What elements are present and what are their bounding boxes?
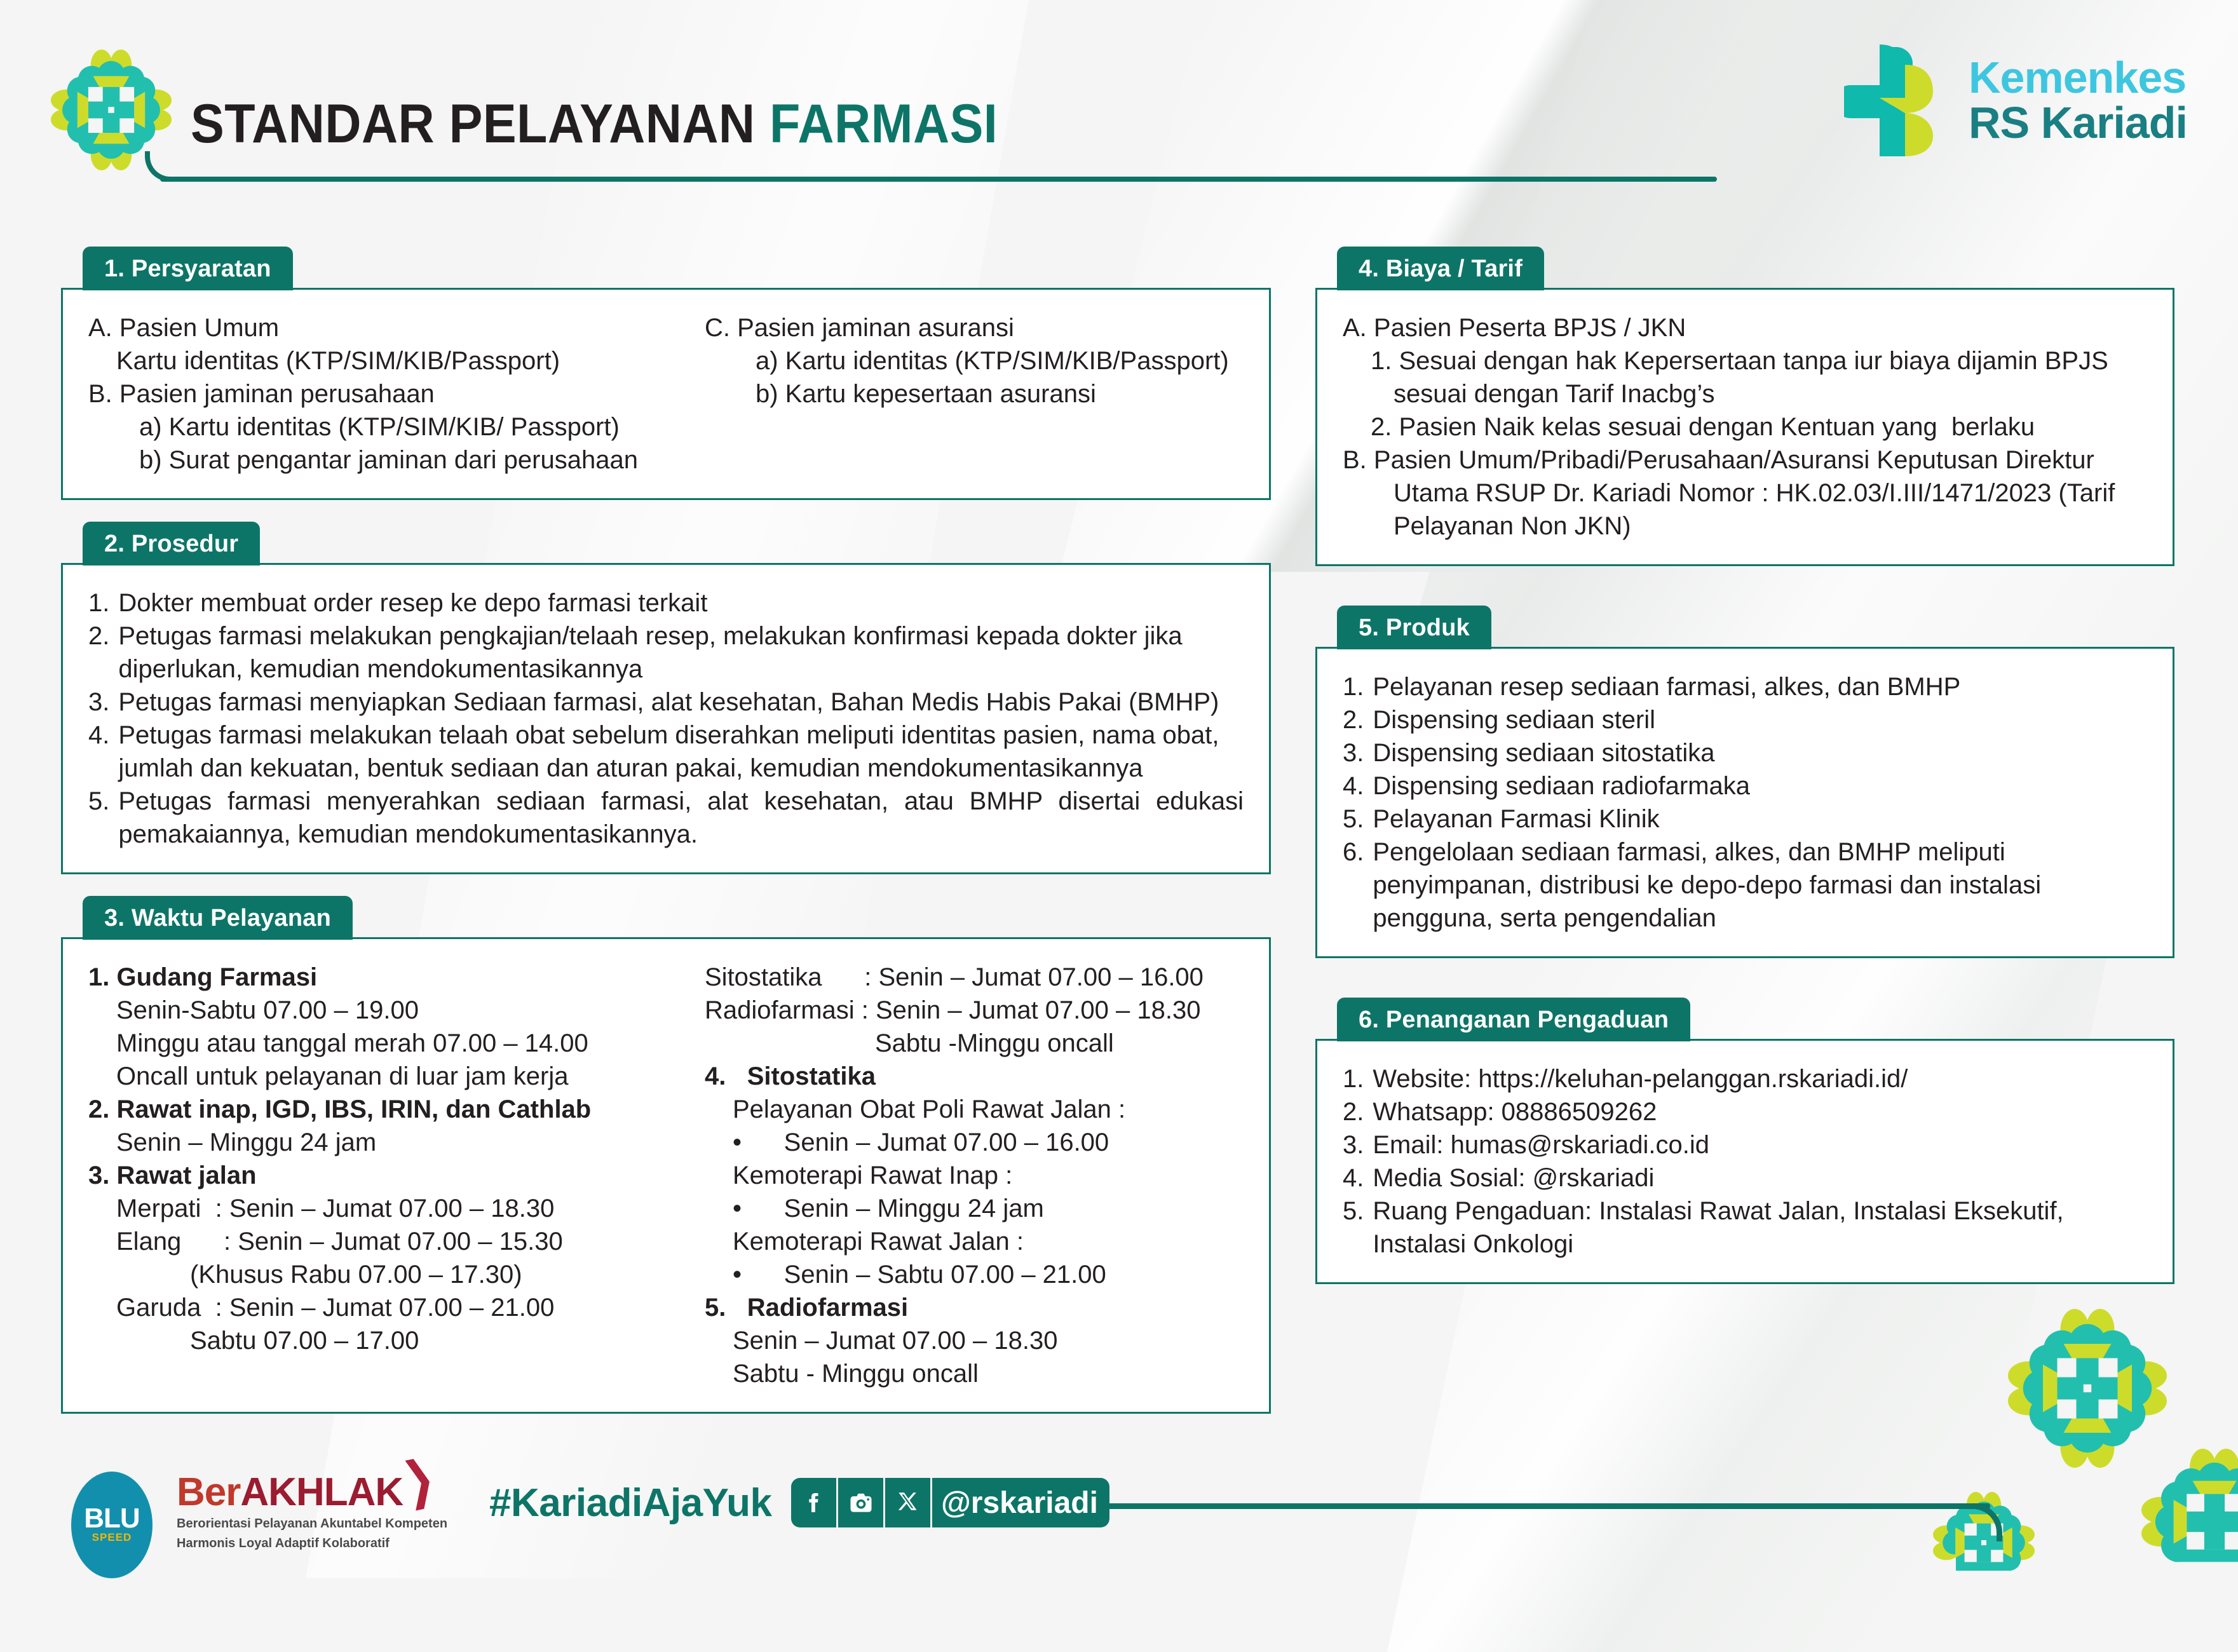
list-item: 2. Petugas farmasi melakukan pengkajian/…	[88, 619, 1244, 686]
batik-flower-ornament-corner	[2141, 1449, 2238, 1598]
kemenkes-line1: Kemenkes	[1969, 55, 2187, 100]
list-text: Whatsapp: 08886509262	[1373, 1095, 2147, 1128]
list-item: Pelayanan Obat Poli Rawat Jalan :	[705, 1093, 1244, 1126]
list-item: (Khusus Rabu 07.00 – 17.30)	[88, 1258, 679, 1291]
list-text: Dispensing sediaan steril	[1373, 703, 2147, 736]
list-item: 4. Petugas farmasi melakukan telaah obat…	[88, 719, 1244, 785]
blu-logo: BLU SPEED	[71, 1472, 153, 1578]
section-biaya-tarif: 4. Biaya / Tarif A. Pasien Peserta BPJS …	[1315, 247, 2174, 566]
list-item: Sabtu 07.00 – 17.00	[88, 1324, 679, 1357]
list-item: sesuai dengan Tarif Inacbg’s	[1343, 377, 2147, 410]
list-text: Ruang Pengaduan: Instalasi Rawat Jalan, …	[1373, 1195, 2147, 1261]
list-text: Petugas farmasi melakukan pengkajian/tel…	[118, 619, 1244, 686]
section-tab-produk: 5. Produk	[1337, 606, 1491, 649]
berakhlak-ber: Ber	[177, 1470, 240, 1514]
hashtag-kariadi: #KariadiAjaYuk	[489, 1480, 771, 1526]
list-item: Kemoterapi Rawat Inap :	[705, 1159, 1244, 1192]
list-item: Kemoterapi Rawat Jalan :	[705, 1225, 1244, 1258]
list-marker: 4.	[88, 719, 118, 785]
list-item: 1. Dokter membuat order resep ke depo fa…	[88, 586, 1244, 619]
list-marker: 4.	[1343, 769, 1373, 802]
list-marker: 5.	[1343, 1195, 1373, 1261]
list-item: Radiofarmasi : Senin – Jumat 07.00 – 18.…	[705, 994, 1244, 1027]
waktu-right-list: Sitostatika : Senin – Jumat 07.00 – 16.0…	[705, 961, 1244, 1390]
list-item: 1. Website: https://keluhan-pelanggan.rs…	[1343, 1062, 2147, 1095]
list-item: Sabtu - Minggu oncall	[705, 1357, 1244, 1390]
list-marker: 3.	[1343, 736, 1373, 769]
section-penanganan-pengaduan: 6. Penanganan Pengaduan 1. Website: http…	[1315, 998, 2174, 1284]
page-title-accent: FARMASI	[770, 93, 998, 154]
list-item: 5. Petugas farmasi menyerahkan sediaan f…	[88, 785, 1244, 851]
instagram-icon[interactable]	[838, 1478, 885, 1527]
list-text: Pelayanan Farmasi Klinik	[1373, 802, 2147, 836]
kemenkes-clover-icon	[1844, 43, 1952, 158]
list-item: b) Kartu kepesertaan asuransi	[705, 377, 1244, 410]
footer-rule-curve	[1967, 1503, 2002, 1541]
kemenkes-line2: RS Kariadi	[1969, 100, 2187, 146]
list-item: Garuda : Senin – Jumat 07.00 – 21.00	[88, 1291, 679, 1324]
list-item: 2. Rawat inap, IGD, IBS, IRIN, dan Cathl…	[88, 1093, 679, 1126]
social-handle: @rskariadi	[932, 1478, 1109, 1527]
section-body-waktu-pelayanan: 1. Gudang Farmasi Senin-Sabtu 07.00 – 19…	[61, 937, 1271, 1414]
batik-flower-ornament-large	[2008, 1309, 2167, 1471]
list-item: • Senin – Sabtu 07.00 – 21.00	[705, 1258, 1244, 1291]
list-item: a) Kartu identitas (KTP/SIM/KIB/Passport…	[705, 344, 1244, 377]
blu-logo-sub: SPEED	[92, 1531, 132, 1544]
page-title-plain: STANDAR PELAYANAN	[191, 93, 770, 154]
list-marker: 1.	[88, 586, 118, 619]
list-text: Email: humas@rskariadi.co.id	[1373, 1128, 2147, 1161]
list-item: 3. Rawat jalan	[88, 1159, 679, 1192]
list-item: Merpati : Senin – Jumat 07.00 – 18.30	[88, 1192, 679, 1225]
social-media-bar[interactable]: @rskariadi	[791, 1478, 1109, 1527]
list-text: Petugas farmasi menyerahkan sediaan farm…	[118, 785, 1244, 851]
list-text: Dispensing sediaan sitostatika	[1373, 736, 2147, 769]
section-produk: 5. Produk 1. Pelayanan resep sediaan far…	[1315, 606, 2174, 958]
list-item: Sitostatika : Senin – Jumat 07.00 – 16.0…	[705, 961, 1244, 994]
list-item: a) Kartu identitas (KTP/SIM/KIB/ Passpor…	[88, 410, 679, 443]
berakhlak-arrow-icon: ❯	[400, 1453, 437, 1507]
list-item: C. Pasien jaminan asuransi	[705, 311, 1244, 344]
waktu-left-list: 1. Gudang Farmasi Senin-Sabtu 07.00 – 19…	[88, 961, 679, 1390]
list-item: 5. Ruang Pengaduan: Instalasi Rawat Jala…	[1343, 1195, 2147, 1261]
list-marker: 5.	[88, 785, 118, 851]
list-marker: 3.	[1343, 1128, 1373, 1161]
list-item: 5. Pelayanan Farmasi Klinik	[1343, 802, 2147, 836]
footer-rule	[1107, 1503, 1990, 1509]
list-item: 1. Sesuai dengan hak Kepersertaan tanpa …	[1343, 344, 2147, 377]
right-column: 4. Biaya / Tarif A. Pasien Peserta BPJS …	[1315, 247, 2174, 1306]
list-item: Kartu identitas (KTP/SIM/KIB/Passport)	[88, 344, 679, 377]
list-item: B. Pasien jaminan perusahaan	[88, 377, 679, 410]
section-persyaratan: 1. Persyaratan A. Pasien Umum Kartu iden…	[61, 247, 1271, 500]
list-item: Senin-Sabtu 07.00 – 19.00	[88, 994, 679, 1027]
list-marker: 3.	[88, 686, 118, 719]
list-item: Utama RSUP Dr. Kariadi Nomor : HK.02.03/…	[1343, 477, 2147, 510]
section-tab-biaya-tarif: 4. Biaya / Tarif	[1337, 247, 1544, 290]
list-text: Dispensing sediaan radiofarmaka	[1373, 769, 2147, 802]
list-item: 3. Email: humas@rskariadi.co.id	[1343, 1128, 2147, 1161]
list-item: B. Pasien Umum/Pribadi/Perusahaan/Asuran…	[1343, 443, 2147, 477]
list-item: 2. Dispensing sediaan steril	[1343, 703, 2147, 736]
berakhlak-logo: BerAKHLAK❯ Berorientasi Pelayanan Akunta…	[177, 1473, 447, 1552]
list-text: Pelayanan resep sediaan farmasi, alkes, …	[1373, 670, 2147, 703]
list-item: A. Pasien Peserta BPJS / JKN	[1343, 311, 2147, 344]
left-column: 1. Persyaratan A. Pasien Umum Kartu iden…	[61, 247, 1271, 1435]
berakhlak-wordmark: BerAKHLAK❯	[177, 1473, 447, 1512]
list-marker: 5.	[1343, 802, 1373, 836]
list-marker: 1.	[1343, 670, 1373, 703]
list-item: 1. Pelayanan resep sediaan farmasi, alke…	[1343, 670, 2147, 703]
section-body-persyaratan: A. Pasien Umum Kartu identitas (KTP/SIM/…	[61, 288, 1271, 500]
list-text: Pengelolaan sediaan farmasi, alkes, dan …	[1373, 836, 2147, 935]
list-item: 2. Pasien Naik kelas sesuai dengan Kentu…	[1343, 410, 2147, 443]
persyaratan-right-list: C. Pasien jaminan asuransi a) Kartu iden…	[705, 311, 1244, 477]
section-body-biaya-tarif: A. Pasien Peserta BPJS / JKN 1. Sesuai d…	[1315, 288, 2174, 566]
section-tab-penanganan-pengaduan: 6. Penanganan Pengaduan	[1337, 998, 1690, 1041]
berakhlak-tagline-2: Harmonis Loyal Adaptif Kolaboratif	[177, 1536, 447, 1552]
section-body-penanganan-pengaduan: 1. Website: https://keluhan-pelanggan.rs…	[1315, 1039, 2174, 1284]
list-marker: 2.	[1343, 1095, 1373, 1128]
berakhlak-akhlak: AKHLAK	[240, 1470, 403, 1514]
list-item: Pelayanan Non JKN)	[1343, 510, 2147, 543]
list-marker: 4.	[1343, 1161, 1373, 1195]
list-item: • Senin – Jumat 07.00 – 16.00	[705, 1126, 1244, 1159]
list-text: Dokter membuat order resep ke depo farma…	[118, 586, 1244, 619]
list-marker: 2.	[88, 619, 118, 686]
list-item: 5. Radiofarmasi	[705, 1291, 1244, 1324]
blu-logo-main: BLU	[84, 1506, 139, 1531]
x-twitter-icon[interactable]	[885, 1478, 932, 1527]
list-item: 4. Media Sosial: @rskariadi	[1343, 1161, 2147, 1195]
section-body-produk: 1. Pelayanan resep sediaan farmasi, alke…	[1315, 647, 2174, 958]
list-text: Petugas farmasi menyiapkan Sediaan farma…	[118, 686, 1244, 719]
list-item: Sabtu -Minggu oncall	[705, 1027, 1244, 1060]
list-item: 1. Gudang Farmasi	[88, 961, 679, 994]
page-title: STANDAR PELAYANAN FARMASI	[191, 93, 998, 156]
list-item: 6. Pengelolaan sediaan farmasi, alkes, d…	[1343, 836, 2147, 935]
kemenkes-logo: Kemenkes RS Kariadi	[1844, 43, 2187, 158]
list-item: Minggu atau tanggal merah 07.00 – 14.00	[88, 1027, 679, 1060]
list-item: 4. Sitostatika	[705, 1060, 1244, 1093]
list-item: Senin – Jumat 07.00 – 18.30	[705, 1324, 1244, 1357]
section-waktu-pelayanan: 3. Waktu Pelayanan 1. Gudang Farmasi Sen…	[61, 896, 1271, 1414]
list-marker: 6.	[1343, 836, 1373, 935]
list-marker: 1.	[1343, 1062, 1373, 1095]
list-item: • Senin – Minggu 24 jam	[705, 1192, 1244, 1225]
list-item: A. Pasien Umum	[88, 311, 679, 344]
list-text: Media Sosial: @rskariadi	[1373, 1161, 2147, 1195]
list-item: Elang : Senin – Jumat 07.00 – 15.30	[88, 1225, 679, 1258]
list-item: b) Surat pengantar jaminan dari perusaha…	[88, 443, 679, 477]
berakhlak-tagline-1: Berorientasi Pelayanan Akuntabel Kompete…	[177, 1516, 447, 1532]
section-tab-prosedur: 2. Prosedur	[83, 522, 260, 565]
section-tab-persyaratan: 1. Persyaratan	[83, 247, 293, 290]
section-prosedur: 2. Prosedur 1. Dokter membuat order rese…	[61, 522, 1271, 874]
section-body-prosedur: 1. Dokter membuat order resep ke depo fa…	[61, 563, 1271, 874]
list-text: Petugas farmasi melakukan telaah obat se…	[118, 719, 1244, 785]
list-item: 3. Petugas farmasi menyiapkan Sediaan fa…	[88, 686, 1244, 719]
list-item: 2. Whatsapp: 08886509262	[1343, 1095, 2147, 1128]
page-header: STANDAR PELAYANAN FARMASI Kemenkes RS Ka…	[0, 0, 2238, 191]
list-item: Senin – Minggu 24 jam	[88, 1126, 679, 1159]
list-text: Website: https://keluhan-pelanggan.rskar…	[1373, 1062, 2147, 1095]
list-item: 3. Dispensing sediaan sitostatika	[1343, 736, 2147, 769]
facebook-icon[interactable]	[791, 1478, 838, 1527]
list-item: Oncall untuk pelayanan di luar jam kerja	[88, 1060, 679, 1093]
header-rule	[160, 177, 1717, 182]
list-marker: 2.	[1343, 703, 1373, 736]
list-item: 4. Dispensing sediaan radiofarmaka	[1343, 769, 2147, 802]
persyaratan-left-list: A. Pasien Umum Kartu identitas (KTP/SIM/…	[88, 311, 679, 477]
section-tab-waktu-pelayanan: 3. Waktu Pelayanan	[83, 896, 353, 940]
